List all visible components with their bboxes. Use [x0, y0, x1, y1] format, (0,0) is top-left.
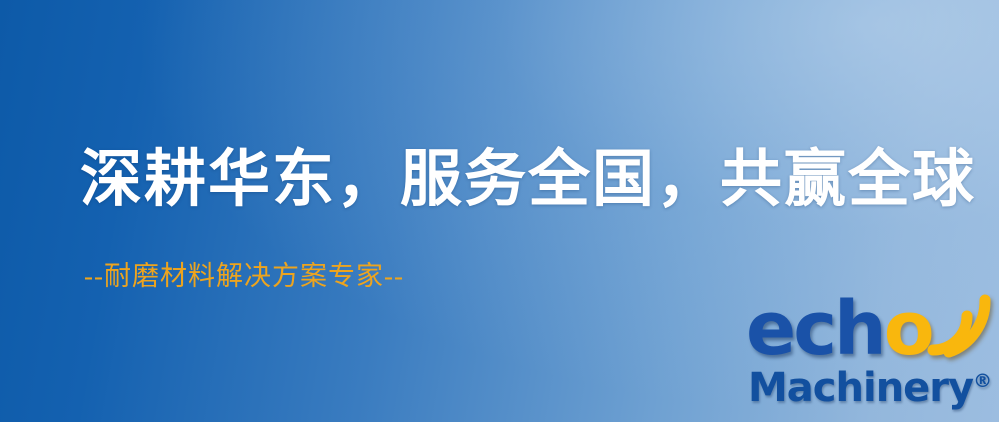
logo-brand-echo-prefix: ech: [746, 286, 884, 372]
logo-wordmark: echo: [744, 296, 996, 374]
registered-trademark-icon: ®: [973, 370, 992, 392]
promo-banner: 深耕华东，服务全国，共赢全球 --耐磨材料解决方案专家-- echo Machi…: [0, 0, 999, 422]
echo-signal-waves-icon: [927, 294, 997, 356]
company-logo: echo Machinery®: [744, 296, 996, 418]
banner-headline: 深耕华东，服务全国，共赢全球: [80, 148, 976, 213]
logo-brand-echo: echo: [746, 292, 932, 366]
logo-brand-machinery-text: Machinery: [748, 365, 973, 411]
logo-brand-echo-o: o: [884, 286, 932, 372]
logo-brand-machinery: Machinery®: [748, 368, 992, 408]
banner-subtitle: --耐磨材料解决方案专家--: [84, 262, 404, 292]
